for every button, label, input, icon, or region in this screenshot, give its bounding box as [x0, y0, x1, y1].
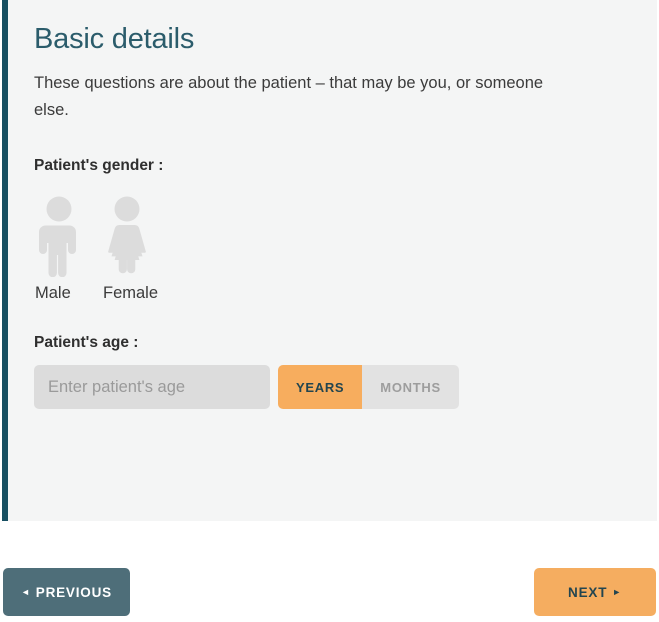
age-unit-months-button[interactable]: MONTHS — [362, 365, 459, 409]
gender-options-group: Male Female — [34, 195, 631, 303]
previous-button[interactable]: ◄ PREVIOUS — [3, 568, 130, 616]
gender-field-label: Patient's gender : — [34, 157, 631, 175]
patient-age-input[interactable] — [34, 365, 270, 409]
gender-option-female-label: Female — [103, 284, 158, 303]
age-input-group: YEARS MONTHS — [34, 365, 631, 409]
male-figure-icon — [36, 195, 82, 277]
age-field-label: Patient's age : — [34, 334, 631, 352]
gender-option-female[interactable]: Female — [102, 195, 170, 303]
gender-option-male-label: Male — [35, 284, 71, 303]
intro-text: These questions are about the patient – … — [34, 70, 564, 124]
previous-button-label: PREVIOUS — [36, 585, 112, 600]
age-unit-toggle: YEARS MONTHS — [278, 365, 459, 409]
triangle-right-icon: ► — [612, 588, 622, 597]
basic-details-card: Basic details These questions are about … — [2, 0, 657, 521]
wizard-footer: ◄ PREVIOUS NEXT ► — [0, 521, 659, 622]
page-title: Basic details — [34, 24, 631, 56]
age-unit-years-button[interactable]: YEARS — [278, 365, 362, 409]
next-button-label: NEXT — [568, 585, 607, 600]
triangle-left-icon: ◄ — [21, 588, 31, 597]
female-figure-icon — [104, 195, 150, 277]
gender-option-male[interactable]: Male — [34, 195, 102, 303]
next-button[interactable]: NEXT ► — [534, 568, 656, 616]
